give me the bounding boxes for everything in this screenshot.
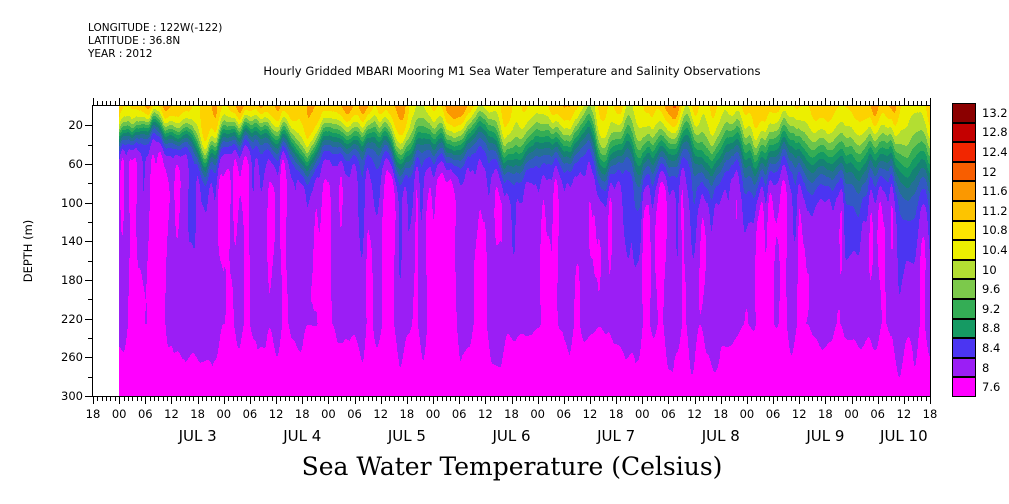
colorbar-band <box>952 123 976 143</box>
time-tick-minor <box>629 396 630 401</box>
colorbar-tick-label: 8.8 <box>982 321 1000 335</box>
time-tick-minor <box>734 396 735 401</box>
time-tick-top <box>93 98 94 106</box>
chart-caption: Sea Water Temperature (Celsius) <box>92 452 932 481</box>
time-tick-minor <box>677 396 678 401</box>
colorbar-band <box>952 240 976 260</box>
date-label: JUL 8 <box>702 427 740 445</box>
time-tick-minor <box>769 396 770 401</box>
colorbar-band <box>952 260 976 280</box>
time-tick-minor <box>607 396 608 401</box>
time-tick-top <box>437 101 438 106</box>
time-tick-label: 12 <box>897 407 912 421</box>
time-tick-major <box>198 396 199 404</box>
time-tick-minor <box>786 396 787 401</box>
time-tick-minor <box>812 396 813 401</box>
time-tick-minor <box>97 396 98 401</box>
time-tick-top <box>464 101 465 106</box>
time-tick-minor <box>150 396 151 401</box>
time-tick-top <box>280 101 281 106</box>
time-tick-major <box>459 396 460 404</box>
time-tick-top <box>468 101 469 106</box>
time-tick-label: 18 <box>923 407 938 421</box>
time-tick-minor <box>873 396 874 401</box>
time-tick-top <box>616 98 617 106</box>
time-tick-top <box>751 101 752 106</box>
time-tick-top <box>620 101 621 106</box>
time-tick-top <box>498 101 499 106</box>
time-tick-top <box>612 101 613 106</box>
time-tick-top <box>298 101 299 106</box>
time-tick-top <box>341 101 342 106</box>
time-tick-minor <box>455 396 456 401</box>
time-tick-top <box>228 101 229 106</box>
depth-tick-major <box>85 396 93 397</box>
time-tick-minor <box>716 396 717 401</box>
time-tick-top <box>206 101 207 106</box>
time-tick-minor <box>559 396 560 401</box>
time-tick-top <box>594 101 595 106</box>
time-tick-major <box>695 396 696 404</box>
time-tick-minor <box>464 396 465 401</box>
time-tick-top <box>677 101 678 106</box>
time-tick-label: 18 <box>400 407 415 421</box>
time-tick-top <box>913 101 914 106</box>
time-tick-top <box>834 101 835 106</box>
depth-tick-label: 140 <box>61 234 83 248</box>
time-tick-top <box>878 98 879 106</box>
time-tick-top <box>442 101 443 106</box>
time-tick-minor <box>594 396 595 401</box>
time-tick-top <box>599 101 600 106</box>
date-label: JUL 4 <box>283 427 321 445</box>
time-tick-minor <box>899 396 900 401</box>
time-tick-major <box>825 396 826 404</box>
time-tick-minor <box>913 396 914 401</box>
time-tick-top <box>407 98 408 106</box>
colorbar-band <box>952 299 976 319</box>
time-tick-minor <box>573 396 574 401</box>
time-tick-top <box>764 101 765 106</box>
time-tick-major <box>564 396 565 404</box>
metadata-block: LONGITUDE : 122W(-122) LATITUDE : 36.8N … <box>88 22 222 61</box>
time-tick-major <box>224 396 225 404</box>
time-tick-label: 00 <box>426 407 441 421</box>
time-tick-top <box>324 101 325 106</box>
time-tick-minor <box>682 396 683 401</box>
figure: LONGITUDE : 122W(-122) LATITUDE : 36.8N … <box>0 0 1009 504</box>
time-tick-top <box>838 101 839 106</box>
time-tick-label: 06 <box>138 407 153 421</box>
time-tick-top <box>394 101 395 106</box>
time-tick-minor <box>420 396 421 401</box>
time-tick-minor <box>777 396 778 401</box>
time-tick-label: 00 <box>216 407 231 421</box>
colorbar-tick-label: 12.4 <box>982 145 1008 159</box>
time-tick-minor <box>263 396 264 401</box>
time-tick-top <box>132 101 133 106</box>
chart-title: Hourly Gridded MBARI Mooring M1 Sea Wate… <box>92 64 932 78</box>
time-tick-major <box>721 396 722 404</box>
time-tick-top <box>607 101 608 106</box>
time-tick-minor <box>834 396 835 401</box>
time-tick-label: 00 <box>635 407 650 421</box>
time-tick-top <box>817 101 818 106</box>
time-tick-top <box>455 101 456 106</box>
time-tick-minor <box>403 396 404 401</box>
time-tick-minor <box>110 396 111 401</box>
time-tick-top <box>363 101 364 106</box>
time-tick-top <box>673 101 674 106</box>
time-tick-minor <box>141 396 142 401</box>
time-tick-minor <box>324 396 325 401</box>
time-tick-top <box>141 101 142 106</box>
time-tick-label: 06 <box>243 407 258 421</box>
time-tick-top <box>516 101 517 106</box>
time-tick-top <box>376 101 377 106</box>
time-tick-label: 12 <box>792 407 807 421</box>
time-tick-top <box>773 98 774 106</box>
time-tick-top <box>921 101 922 106</box>
time-tick-top <box>110 101 111 106</box>
time-tick-top <box>359 101 360 106</box>
time-tick-minor <box>865 396 866 401</box>
time-tick-major <box>512 396 513 404</box>
time-tick-major <box>773 396 774 404</box>
time-tick-top <box>154 101 155 106</box>
time-tick-top <box>433 98 434 106</box>
time-tick-minor <box>856 396 857 401</box>
time-tick-top <box>564 98 565 106</box>
colorbar-band <box>952 221 976 241</box>
time-tick-minor <box>246 396 247 401</box>
time-tick-top <box>590 98 591 106</box>
time-tick-minor <box>394 396 395 401</box>
time-tick-minor <box>860 396 861 401</box>
time-tick-top <box>581 101 582 106</box>
time-tick-minor <box>202 396 203 401</box>
colorbar-tick-label: 9.6 <box>982 282 1000 296</box>
time-tick-top <box>716 101 717 106</box>
time-tick-minor <box>167 396 168 401</box>
time-tick-top <box>119 98 120 106</box>
time-tick-top <box>381 98 382 106</box>
time-tick-top <box>420 101 421 106</box>
time-tick-top <box>507 101 508 106</box>
time-tick-minor <box>869 396 870 401</box>
depth-tick-major <box>85 280 93 281</box>
time-tick-minor <box>634 396 635 401</box>
time-tick-top <box>102 101 103 106</box>
time-tick-label: 06 <box>870 407 885 421</box>
time-tick-top <box>272 101 273 106</box>
time-tick-minor <box>124 396 125 401</box>
time-tick-top <box>202 101 203 106</box>
time-tick-top <box>285 101 286 106</box>
time-tick-top <box>734 101 735 106</box>
time-tick-minor <box>215 396 216 401</box>
time-tick-major <box>355 396 356 404</box>
date-label: JUL 7 <box>597 427 635 445</box>
time-tick-minor <box>185 396 186 401</box>
colorbar: 13.212.812.41211.611.210.810.4109.69.28.… <box>952 103 976 397</box>
time-tick-minor <box>921 396 922 401</box>
time-tick-label: 18 <box>504 407 519 421</box>
time-tick-top <box>163 101 164 106</box>
time-tick-top <box>267 101 268 106</box>
time-tick-minor <box>651 396 652 401</box>
time-tick-top <box>311 101 312 106</box>
time-tick-top <box>821 101 822 106</box>
time-tick-minor <box>638 396 639 401</box>
time-tick-top <box>559 101 560 106</box>
time-tick-top <box>403 101 404 106</box>
time-tick-minor <box>886 396 887 401</box>
colorbar-tick-label: 10 <box>982 263 997 277</box>
time-tick-minor <box>285 396 286 401</box>
date-label: JUL 6 <box>492 427 530 445</box>
colorbar-band <box>952 319 976 339</box>
time-tick-minor <box>490 396 491 401</box>
colorbar-tick-label: 10.4 <box>982 243 1008 257</box>
time-tick-top <box>189 101 190 106</box>
time-tick-top <box>446 101 447 106</box>
time-tick-minor <box>533 396 534 401</box>
time-tick-major <box>799 396 800 404</box>
time-tick-minor <box>450 396 451 401</box>
time-tick-major <box>145 396 146 404</box>
time-tick-minor <box>211 396 212 401</box>
time-tick-minor <box>346 396 347 401</box>
time-tick-label: 18 <box>609 407 624 421</box>
time-tick-minor <box>847 396 848 401</box>
time-tick-top <box>904 98 905 106</box>
time-tick-minor <box>603 396 604 401</box>
depth-tick-major <box>85 203 93 204</box>
time-tick-minor <box>368 396 369 401</box>
time-tick-top <box>847 101 848 106</box>
time-tick-top <box>777 101 778 106</box>
time-tick-top <box>337 101 338 106</box>
time-tick-major <box>616 396 617 404</box>
time-tick-top <box>485 98 486 106</box>
time-tick-top <box>721 98 722 106</box>
time-tick-top <box>167 101 168 106</box>
time-tick-top <box>899 101 900 106</box>
time-tick-minor <box>363 396 364 401</box>
time-tick-top <box>808 101 809 106</box>
time-tick-minor <box>546 396 547 401</box>
time-tick-minor <box>908 396 909 401</box>
time-tick-minor <box>760 396 761 401</box>
colorbar-band <box>952 162 976 182</box>
time-tick-label: 00 <box>530 407 545 421</box>
colorbar-band <box>952 338 976 358</box>
time-tick-minor <box>289 396 290 401</box>
time-tick-minor <box>219 396 220 401</box>
colorbar-band <box>952 279 976 299</box>
time-tick-minor <box>237 396 238 401</box>
time-tick-label: 06 <box>347 407 362 421</box>
time-tick-top <box>651 101 652 106</box>
time-tick-top <box>812 101 813 106</box>
time-tick-top <box>743 101 744 106</box>
time-tick-minor <box>507 396 508 401</box>
time-tick-top <box>328 98 329 106</box>
time-tick-minor <box>568 396 569 401</box>
time-tick-top <box>930 98 931 106</box>
time-tick-major <box>747 396 748 404</box>
depth-tick-minor <box>88 222 93 223</box>
time-tick-top <box>882 101 883 106</box>
time-tick-minor <box>337 396 338 401</box>
time-tick-minor <box>472 396 473 401</box>
colorbar-tick-label: 8 <box>982 361 989 375</box>
time-tick-top <box>171 98 172 106</box>
time-tick-minor <box>385 396 386 401</box>
time-tick-minor <box>446 396 447 401</box>
time-tick-top <box>895 101 896 106</box>
time-tick-minor <box>320 396 321 401</box>
time-tick-minor <box>804 396 805 401</box>
time-tick-top <box>180 101 181 106</box>
time-tick-top <box>398 101 399 106</box>
colorbar-band <box>952 358 976 378</box>
time-tick-minor <box>424 396 425 401</box>
time-tick-top <box>346 101 347 106</box>
time-tick-top <box>333 101 334 106</box>
date-label: JUL 3 <box>179 427 217 445</box>
time-tick-minor <box>712 396 713 401</box>
time-tick-label: 18 <box>86 407 101 421</box>
time-tick-minor <box>520 396 521 401</box>
time-tick-minor <box>725 396 726 401</box>
time-tick-top <box>634 101 635 106</box>
time-tick-top <box>424 101 425 106</box>
time-tick-top <box>198 98 199 106</box>
time-tick-major <box>93 396 94 404</box>
time-tick-minor <box>494 396 495 401</box>
time-tick-top <box>259 101 260 106</box>
time-tick-minor <box>498 396 499 401</box>
time-tick-top <box>263 101 264 106</box>
time-tick-top <box>211 101 212 106</box>
time-tick-minor <box>756 396 757 401</box>
time-tick-minor <box>729 396 730 401</box>
time-tick-top <box>804 101 805 106</box>
time-tick-top <box>411 101 412 106</box>
time-tick-top <box>699 101 700 106</box>
colorbar-tick-label: 12.8 <box>982 125 1008 139</box>
time-tick-minor <box>830 396 831 401</box>
time-tick-minor <box>477 396 478 401</box>
time-tick-minor <box>795 396 796 401</box>
time-tick-top <box>642 98 643 106</box>
time-tick-top <box>908 101 909 106</box>
colorbar-band <box>952 181 976 201</box>
time-tick-top <box>546 101 547 106</box>
time-tick-minor <box>895 396 896 401</box>
time-tick-label: 00 <box>844 407 859 421</box>
colorbar-band <box>952 377 976 397</box>
time-tick-minor <box>917 396 918 401</box>
date-label: JUL 5 <box>388 427 426 445</box>
time-tick-minor <box>267 396 268 401</box>
time-tick-major <box>171 396 172 404</box>
time-tick-top <box>477 101 478 106</box>
colorbar-band <box>952 201 976 221</box>
time-tick-minor <box>158 396 159 401</box>
time-tick-top <box>128 101 129 106</box>
time-tick-minor <box>429 396 430 401</box>
time-tick-minor <box>882 396 883 401</box>
time-tick-top <box>725 101 726 106</box>
time-tick-minor <box>307 396 308 401</box>
time-tick-top <box>320 101 321 106</box>
time-tick-top <box>294 101 295 106</box>
time-tick-minor <box>782 396 783 401</box>
time-tick-minor <box>311 396 312 401</box>
time-tick-major <box>852 396 853 404</box>
colorbar-tick-label: 13.2 <box>982 106 1008 120</box>
time-tick-top <box>385 101 386 106</box>
time-tick-major <box>930 396 931 404</box>
time-tick-minor <box>581 396 582 401</box>
time-tick-top <box>302 98 303 106</box>
time-tick-top <box>625 101 626 106</box>
time-tick-top <box>917 101 918 106</box>
time-tick-top <box>389 101 390 106</box>
time-tick-top <box>429 101 430 106</box>
depth-tick-minor <box>88 145 93 146</box>
time-tick-label: 18 <box>818 407 833 421</box>
plot-area: 2060100140180220260300180006121800061218… <box>92 105 931 397</box>
time-tick-top <box>137 101 138 106</box>
time-tick-minor <box>437 396 438 401</box>
time-tick-top <box>586 101 587 106</box>
time-tick-top <box>494 101 495 106</box>
time-tick-minor <box>647 396 648 401</box>
time-tick-minor <box>389 396 390 401</box>
time-tick-minor <box>468 396 469 401</box>
depth-tick-minor <box>88 261 93 262</box>
colorbar-band <box>952 103 976 123</box>
time-tick-top <box>115 101 116 106</box>
time-tick-minor <box>315 396 316 401</box>
time-tick-minor <box>838 396 839 401</box>
time-tick-minor <box>233 396 234 401</box>
time-tick-minor <box>176 396 177 401</box>
time-tick-top <box>525 101 526 106</box>
time-tick-top <box>795 101 796 106</box>
time-tick-label: 00 <box>740 407 755 421</box>
time-tick-minor <box>660 396 661 401</box>
time-tick-top <box>246 101 247 106</box>
time-tick-top <box>233 101 234 106</box>
time-tick-minor <box>599 396 600 401</box>
time-tick-minor <box>808 396 809 401</box>
time-tick-minor <box>673 396 674 401</box>
time-tick-label: 12 <box>373 407 388 421</box>
colorbar-tick-label: 9.2 <box>982 302 1000 316</box>
time-tick-top <box>520 101 521 106</box>
depth-tick-label: 100 <box>61 196 83 210</box>
time-tick-minor <box>542 396 543 401</box>
time-tick-top <box>655 101 656 106</box>
time-tick-major <box>407 396 408 404</box>
time-tick-label: 06 <box>452 407 467 421</box>
time-tick-minor <box>577 396 578 401</box>
